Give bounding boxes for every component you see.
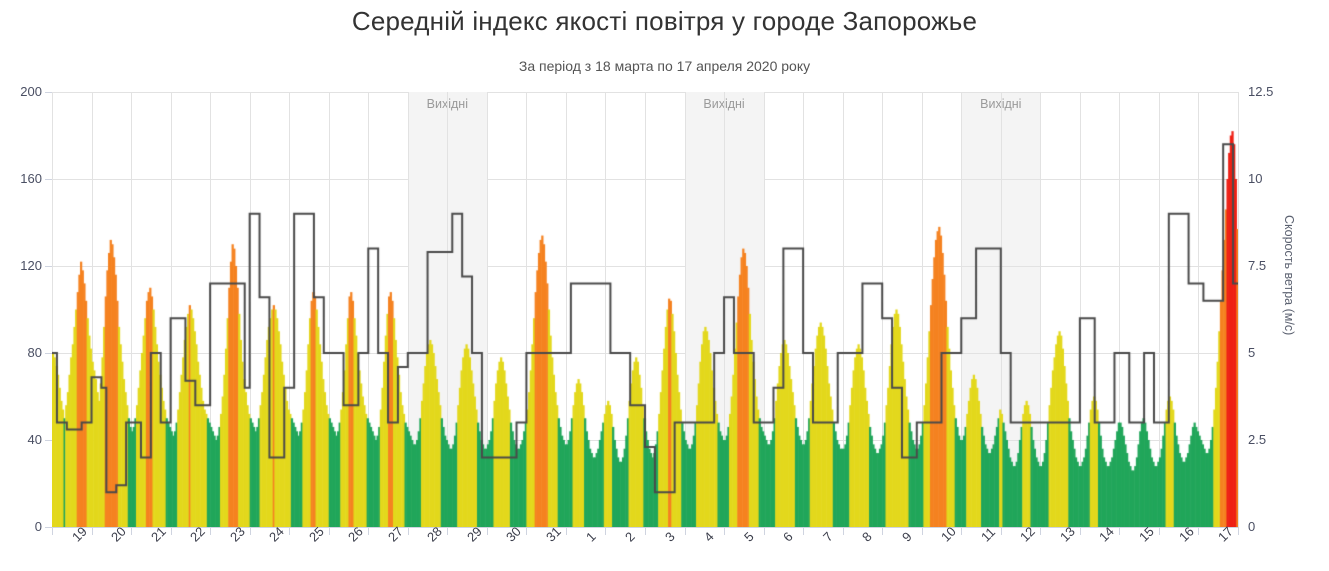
x-axis-tick: 8 [859,529,875,545]
chart-root: Середній індекс якості повітря у городе … [0,0,1329,571]
x-axis-tickmark [447,527,448,535]
x-axis-tickmark [1159,527,1160,535]
wind-speed-line-canvas [52,92,1238,527]
y-axis-left-tick: 120 [0,258,42,273]
x-axis-tickmark [1040,527,1041,535]
y-axis-left-tick: 80 [0,345,42,360]
y-axis-right-tick: 0 [1248,519,1308,534]
x-axis-tickmark [803,527,804,535]
plot-area: ВихідніВихідніВихідні [52,92,1238,527]
x-axis-tickmark [922,527,923,535]
gridline-vertical [1238,92,1239,527]
y-axis-right-tick: 12.5 [1248,84,1308,99]
x-axis-tickmark [52,527,53,535]
x-axis-tickmark [764,527,765,535]
y-axis-right-label: Скорость ветра (м/с) [1282,215,1296,335]
x-axis-tickmark [210,527,211,535]
x-axis-tickmark [526,527,527,535]
x-axis-tickmark [1198,527,1199,535]
y-axis-right-tick: 10 [1248,171,1308,186]
y-axis-left-tickmark [45,266,52,267]
y-axis-left-tickmark [45,353,52,354]
x-axis-tickmark [289,527,290,535]
x-axis-tickmark [605,527,606,535]
x-axis-tickmark [685,527,686,535]
y-axis-left-tickmark [45,92,52,93]
x-axis-tickmark [1119,527,1120,535]
x-axis-tickmark [645,527,646,535]
y-axis-right-tick: 7.5 [1248,258,1308,273]
x-axis-tick: 5 [741,529,757,545]
y-axis-left-tickmark [45,179,52,180]
page-subtitle: За період з 18 марта по 17 апреля 2020 р… [0,58,1329,74]
x-axis-tickmark [1001,527,1002,535]
y-axis-left-tick: 40 [0,432,42,447]
page-title: Середній індекс якості повітря у городе … [0,6,1329,37]
x-axis-tickmark [961,527,962,535]
x-axis-tick: 3 [662,529,678,545]
x-axis-tickmark [487,527,488,535]
y-axis-left-tickmark [45,527,52,528]
x-axis-tickmark [131,527,132,535]
y-axis-left-tick: 200 [0,84,42,99]
x-axis-tickmark [1080,527,1081,535]
x-axis-tick: 7 [820,529,836,545]
y-axis-right-tick: 2.5 [1248,432,1308,447]
y-axis-left-tick: 160 [0,171,42,186]
y-axis-left-tick: 0 [0,519,42,534]
x-axis-tick: 6 [780,529,796,545]
x-axis-tickmark [843,527,844,535]
x-axis-tickmark [566,527,567,535]
x-axis-tick: 1 [583,529,599,545]
x-axis-tick: 4 [701,529,717,545]
x-axis-tickmark [408,527,409,535]
x-axis-tickmark [724,527,725,535]
x-axis-tickmark [92,527,93,535]
x-axis-tickmark [368,527,369,535]
x-axis-tickmark [171,527,172,535]
x-axis-tick: 9 [899,529,915,545]
x-axis-tickmark [329,527,330,535]
x-axis-tickmark [882,527,883,535]
y-axis-left-tickmark [45,440,52,441]
x-axis-tickmark [250,527,251,535]
y-axis-right-tick: 5 [1248,345,1308,360]
x-axis-tickmark [1238,527,1239,535]
x-axis-tick: 2 [622,529,638,545]
